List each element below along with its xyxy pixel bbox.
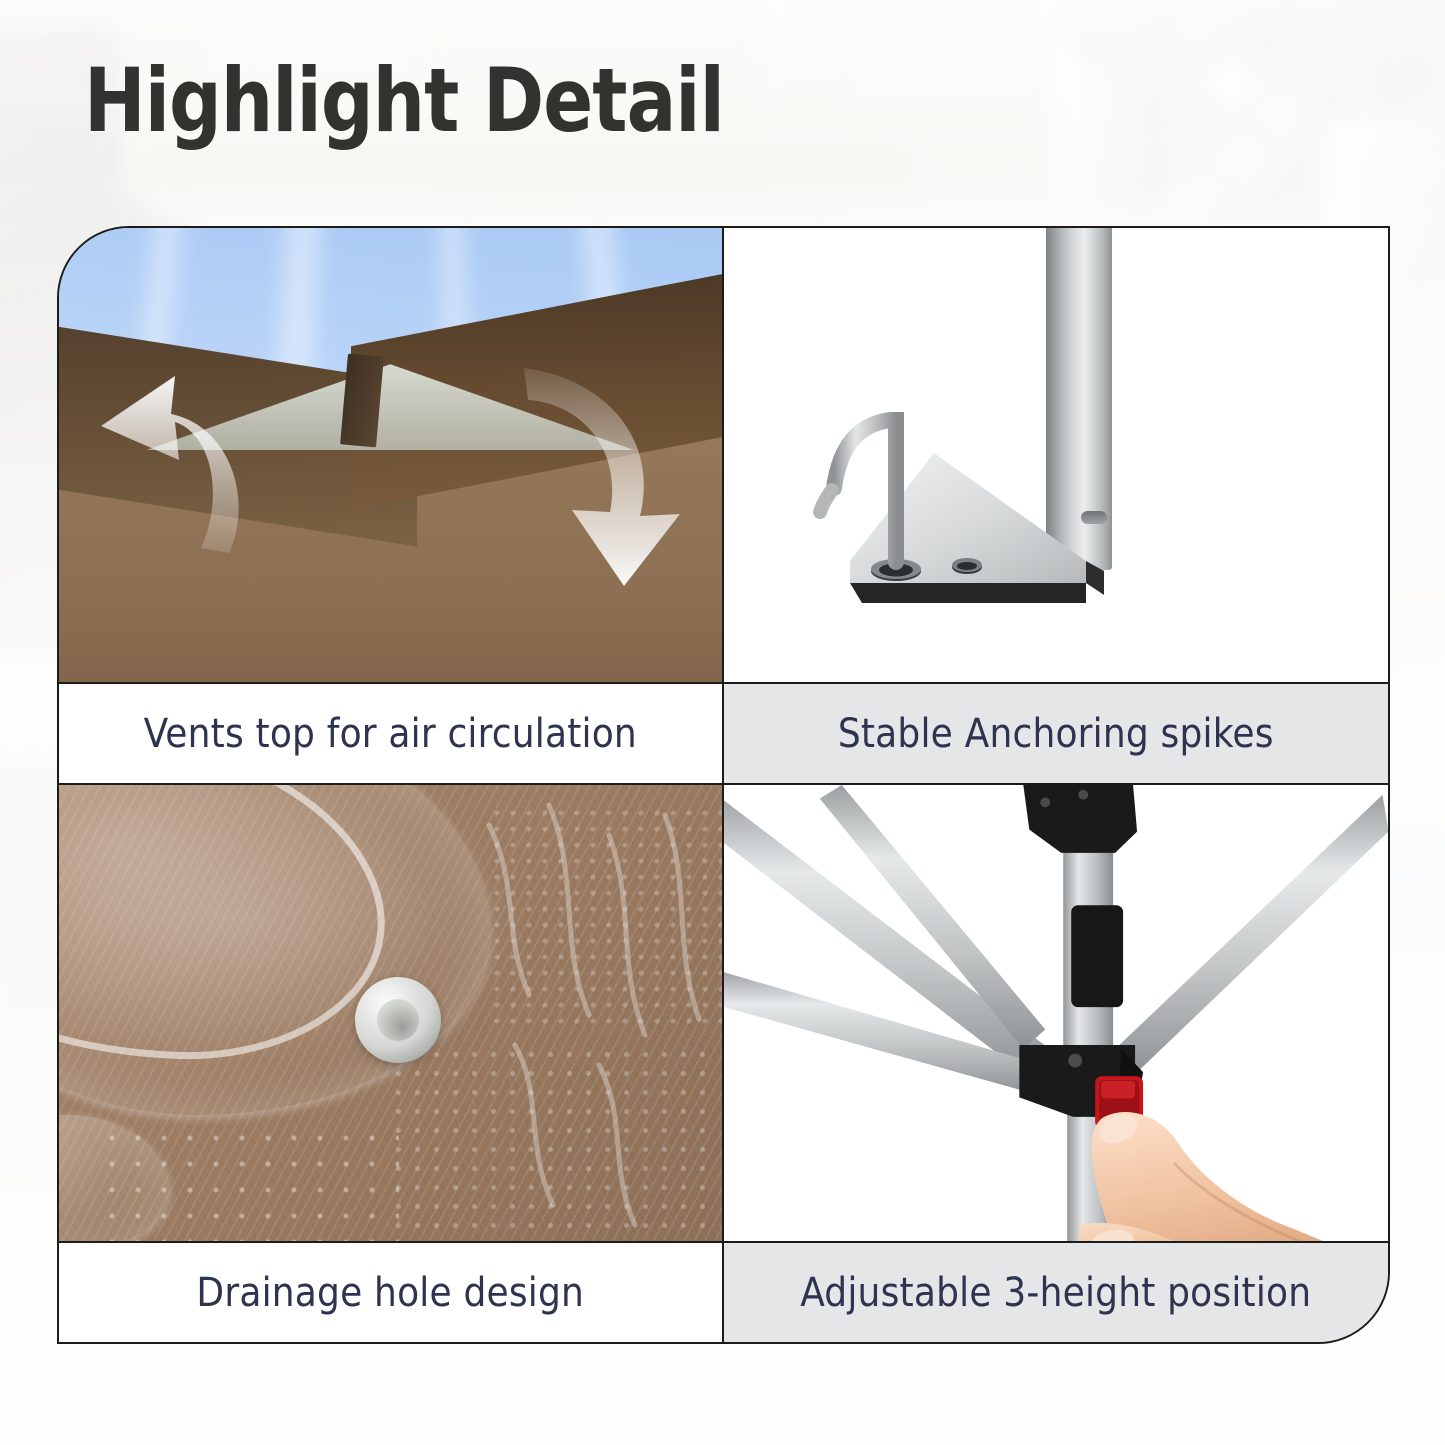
airflow-arrow-up-icon [79, 348, 309, 578]
feature-panel-height[interactable]: Adjustable 3-height position [724, 785, 1389, 1342]
water-droplets [99, 1125, 399, 1241]
feature-grid: Vents top for air circulation [57, 226, 1390, 1344]
anchoring-image [724, 228, 1389, 682]
vents-image [59, 228, 722, 682]
height-image [724, 785, 1389, 1241]
anchor-spike-icon [786, 340, 1086, 590]
caption-drainage: Drainage hole design [59, 1241, 722, 1342]
airflow-arrow-down-icon [454, 348, 704, 608]
feature-panel-vents[interactable]: Vents top for air circulation [59, 228, 724, 785]
page-title: Highlight Detail [84, 57, 724, 145]
feature-panel-drainage[interactable]: Drainage hole design [59, 785, 724, 1342]
hand-pressing-icon [1074, 1097, 1389, 1241]
water-streaks [459, 795, 722, 1241]
feature-panel-anchoring[interactable]: Stable Anchoring spikes [724, 228, 1389, 785]
caption-height: Adjustable 3-height position [724, 1241, 1389, 1342]
drainage-hole-icon [377, 999, 419, 1041]
caption-vents: Vents top for air circulation [59, 682, 722, 783]
drainage-image [59, 785, 722, 1241]
caption-anchoring: Stable Anchoring spikes [724, 682, 1389, 783]
